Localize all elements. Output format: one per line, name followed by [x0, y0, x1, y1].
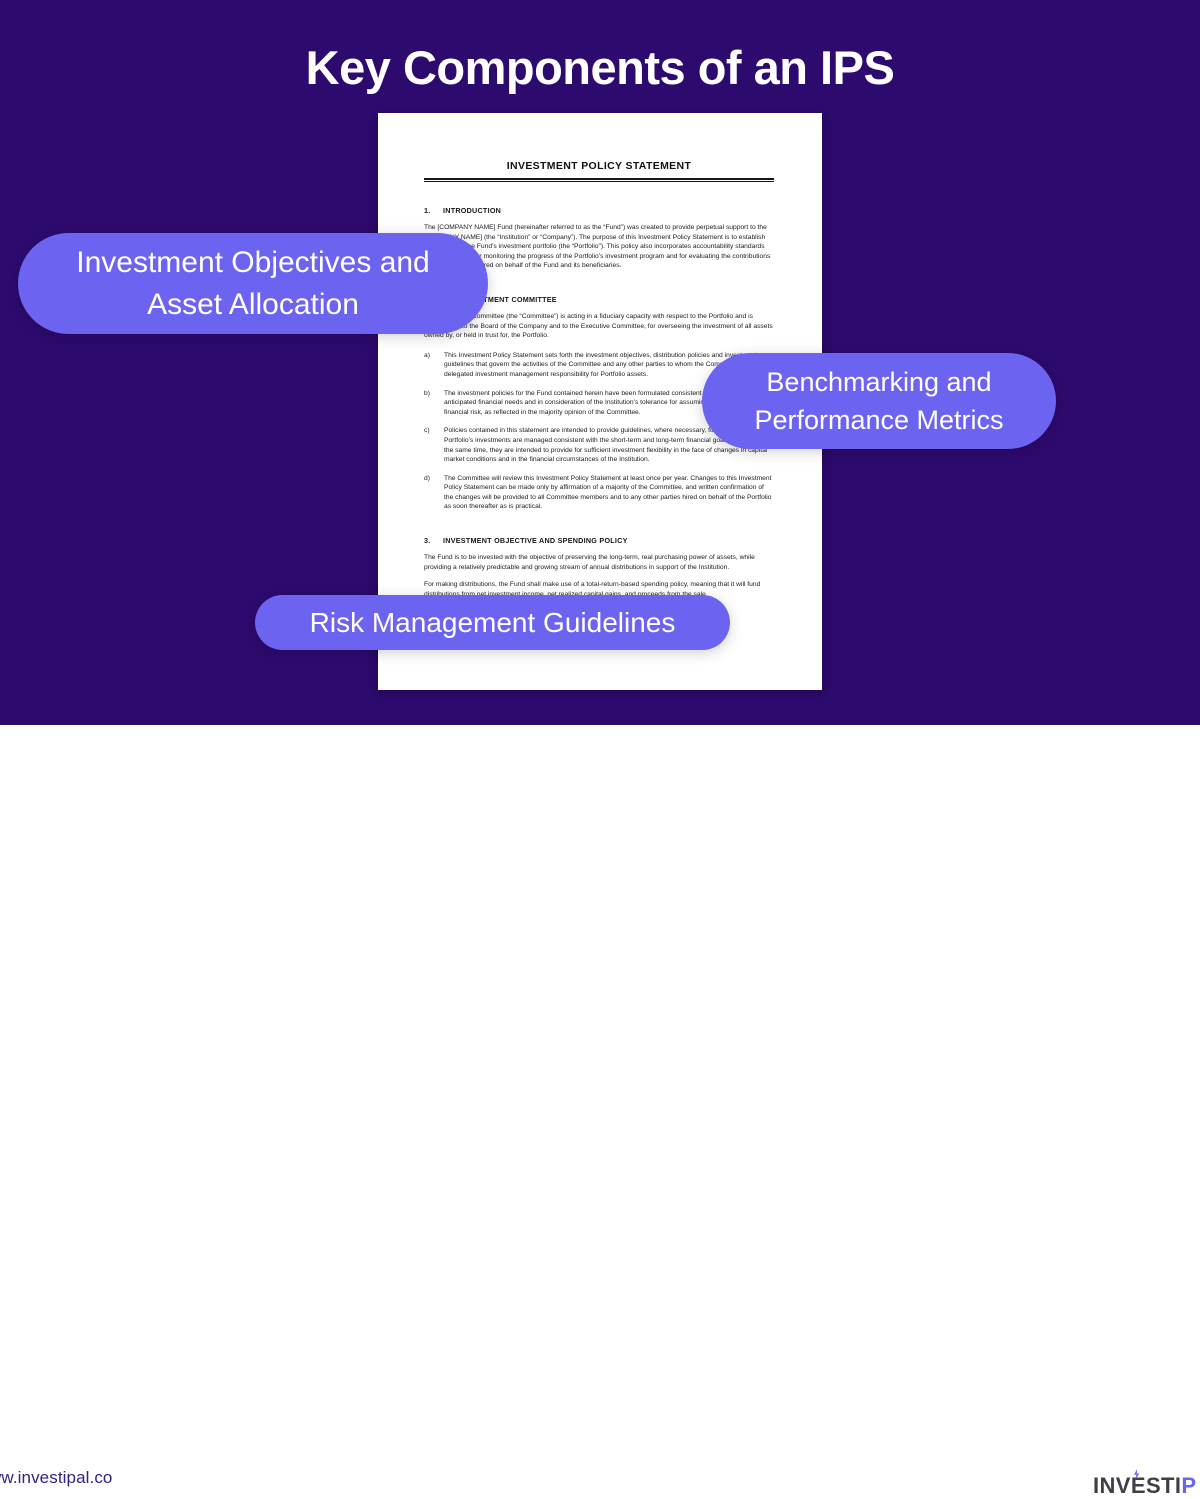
document-section-heading: 1. INTRODUCTION [424, 206, 774, 215]
section-paragraph: The Fund is to be invested with the obje… [424, 553, 774, 572]
website-url[interactable]: ww.investipal.co [0, 1468, 113, 1488]
spark-icon [1132, 1469, 1141, 1480]
list-item-marker: c) [424, 426, 435, 464]
document-title-rule [424, 178, 774, 182]
logo-wordmark: INVESTIP [1093, 1473, 1196, 1499]
component-pill-investment-objectives[interactable]: Investment Objectives and Asset Allocati… [18, 233, 488, 334]
investipal-logo[interactable]: INVESTIP [1093, 1473, 1196, 1499]
list-item: d) The Committee will review this Invest… [424, 474, 774, 512]
logo-wordmark-tail: P [1181, 1473, 1196, 1498]
section-paragraph: The Investment Committee (the “Committee… [424, 312, 774, 341]
document-title: INVESTMENT POLICY STATEMENT [424, 160, 774, 172]
component-pill-benchmarking[interactable]: Benchmarking and Performance Metrics [702, 353, 1056, 449]
section-number: 3. [424, 536, 433, 545]
page-title: Key Components of an IPS [0, 40, 1200, 96]
section-heading-text: INTRODUCTION [443, 206, 501, 215]
list-item-marker: b) [424, 389, 435, 418]
section-heading-text: INVESTMENT OBJECTIVE AND SPENDING POLICY [443, 536, 628, 545]
list-item-text: The Committee will review this Investmen… [444, 474, 774, 512]
component-pill-risk-management[interactable]: Risk Management Guidelines [255, 595, 730, 650]
list-item-marker: d) [424, 474, 435, 512]
footer-bar: ww.investipal.co INVESTIP [0, 725, 1200, 800]
list-item-marker: a) [424, 351, 435, 380]
document-section-heading: 3. INVESTMENT OBJECTIVE AND SPENDING POL… [424, 536, 774, 545]
slide-canvas: Key Components of an IPS INVESTMENT POLI… [0, 0, 1200, 800]
section-number: 1. [424, 206, 433, 215]
